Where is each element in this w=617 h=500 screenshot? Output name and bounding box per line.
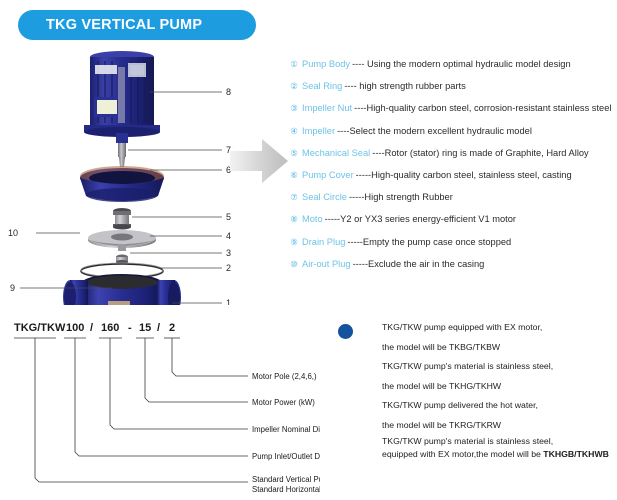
- callout-number-3: 3: [226, 248, 231, 258]
- part-impeller: [88, 230, 156, 251]
- legend-part-name: Impeller Nut: [302, 102, 352, 115]
- legend-part-name: Seal Ring: [302, 80, 342, 93]
- legend-description: ----Rotor (stator) ring is made of Graph…: [372, 147, 588, 160]
- variant-note-line: TKG/TKW pump's material is stainless ste…: [382, 357, 617, 377]
- variant-model-code: TKHGB/TKHWB: [543, 449, 609, 459]
- model-code-prefix: TKG/TKW: [14, 322, 66, 334]
- callout-number-9: 9: [10, 283, 15, 293]
- legend-number: ⑨: [286, 236, 302, 249]
- model-code-pole: 2: [169, 322, 175, 334]
- bullet-dot-icon: [338, 324, 353, 339]
- legend-number: ④: [286, 125, 302, 138]
- legend-description: -----Exclude the air in the casing: [353, 258, 485, 271]
- legend-item: ⑤ Mechanical Seal ----Rotor (stator) rin…: [286, 147, 616, 169]
- model-code-dash: -: [128, 322, 132, 334]
- callout-number-2: 2: [226, 263, 231, 273]
- legend-description: ---- high strength rubber parts: [344, 80, 465, 93]
- legend-item: ⑨ Drain Plug -----Empty the pump case on…: [286, 236, 616, 258]
- legend-part-name: Air-out Plug: [302, 258, 351, 271]
- legend-number: ⑧: [286, 213, 302, 226]
- part-pump-body: [63, 274, 181, 305]
- legend-item: ⑩ Air-out Plug -----Exclude the air in t…: [286, 258, 616, 280]
- part-mechanical-seal: [113, 208, 131, 230]
- nomenclature-label-motor-power: Motor Power (kW): [252, 398, 315, 407]
- variant-note-line: TKG/TKW pump's material is stainless ste…: [382, 435, 617, 448]
- legend-description: ----High-quality carbon steel, corrosion…: [354, 102, 611, 115]
- legend-description: -----Y2 or YX3 series energy-efficient V…: [325, 213, 516, 226]
- legend-number: ⑦: [286, 191, 302, 204]
- legend-item: ⑧ Moto -----Y2 or YX3 series energy-effi…: [286, 213, 616, 235]
- part-motor: [84, 51, 160, 137]
- nomenclature-label-standard-horiz: Standard Horizontal Pump: [252, 485, 320, 494]
- legend-item: ③ Impeller Nut ----High-quality carbon s…: [286, 102, 616, 124]
- variant-note-line: the model will be TKBG/TKBW: [382, 338, 617, 358]
- legend-part-name: Moto: [302, 213, 323, 226]
- part-pump-cover: [80, 166, 164, 202]
- legend-item: ② Seal Ring ---- high strength rubber pa…: [286, 80, 616, 102]
- legend-part-name: Mechanical Seal: [302, 147, 370, 160]
- variant-note-line-last: equipped with EX motor,the model will be…: [382, 448, 617, 461]
- legend-part-name: Drain Plug: [302, 236, 345, 249]
- page-title-banner: TKG VERTICAL PUMP: [18, 10, 256, 40]
- legend-item: ④ Impeller ----Select the modern excelle…: [286, 125, 616, 147]
- model-code-slash-1: /: [90, 322, 93, 334]
- parts-legend-list: ① Pump Body ---- Using the modern optima…: [286, 58, 616, 280]
- legend-item: ① Pump Body ---- Using the modern optima…: [286, 58, 616, 80]
- legend-number: ⑥: [286, 169, 302, 182]
- legend-part-name: Pump Body: [302, 58, 350, 71]
- callout-number-8: 8: [226, 87, 231, 97]
- legend-item: ⑥ Pump Cover -----High-quality carbon st…: [286, 169, 616, 191]
- legend-number: ①: [286, 58, 302, 71]
- legend-number: ②: [286, 80, 302, 93]
- legend-description: -----High strength Rubber: [349, 191, 453, 204]
- legend-item: ⑦ Seal Circle -----High strength Rubber: [286, 191, 616, 213]
- nomenclature-label-motor-pole: Motor Pole (2,4,6,): [252, 372, 317, 381]
- part-shaft: [116, 133, 128, 167]
- variant-note-line: the model will be TKRG/TKRW: [382, 416, 617, 436]
- variant-note-line: the model will be TKHG/TKHW: [382, 377, 617, 397]
- variant-note-text: equipped with EX motor,the model will be: [382, 449, 543, 459]
- model-code-power: 15: [139, 322, 151, 334]
- right-arrow-icon: [228, 135, 290, 187]
- model-nomenclature-diagram: TKG/TKW 100 / 160 - 15 / 2: [0, 310, 320, 495]
- model-code-inlet: 100: [66, 322, 84, 334]
- nomenclature-label-impeller-dia: Impeller Nominal Diameter (mm): [252, 425, 320, 434]
- legend-number: ③: [286, 102, 302, 115]
- model-variants-block: TKG/TKW pump equipped with EX motor, the…: [330, 318, 617, 461]
- legend-part-name: Seal Circle: [302, 191, 347, 204]
- legend-description: -----High-quality carbon steel, stainles…: [356, 169, 572, 182]
- callout-number-10: 10: [8, 228, 18, 238]
- legend-part-name: Pump Cover: [302, 169, 354, 182]
- part-impeller-nut: [116, 255, 128, 265]
- nomenclature-label-standard-vert: Standard Vertical Pump/: [252, 475, 320, 484]
- legend-description: -----Empty the pump case once stopped: [347, 236, 511, 249]
- callout-number-4: 4: [226, 231, 231, 241]
- callout-number-1: 1: [226, 298, 231, 305]
- variant-note-line: TKG/TKW pump equipped with EX motor,: [382, 318, 617, 338]
- model-code-impeller: 160: [101, 322, 119, 334]
- page-title: TKG VERTICAL PUMP: [46, 17, 202, 33]
- legend-number: ⑩: [286, 258, 302, 271]
- legend-description: ----Select the modern excellent hydrauli…: [337, 125, 532, 138]
- pump-exploded-diagram: 8 7 6 5 4 3 2 1 10 9: [0, 45, 250, 305]
- legend-description: ---- Using the modern optimal hydraulic …: [352, 58, 571, 71]
- legend-number: ⑤: [286, 147, 302, 160]
- legend-part-name: Impeller: [302, 125, 335, 138]
- variant-note-line: TKG/TKW pump delivered the hot water,: [382, 396, 617, 416]
- model-code-slash-2: /: [157, 322, 160, 334]
- callout-number-5: 5: [226, 212, 231, 222]
- nomenclature-label-inlet-dia: Pump Inlet/Outlet Diameter (mm): [252, 452, 320, 461]
